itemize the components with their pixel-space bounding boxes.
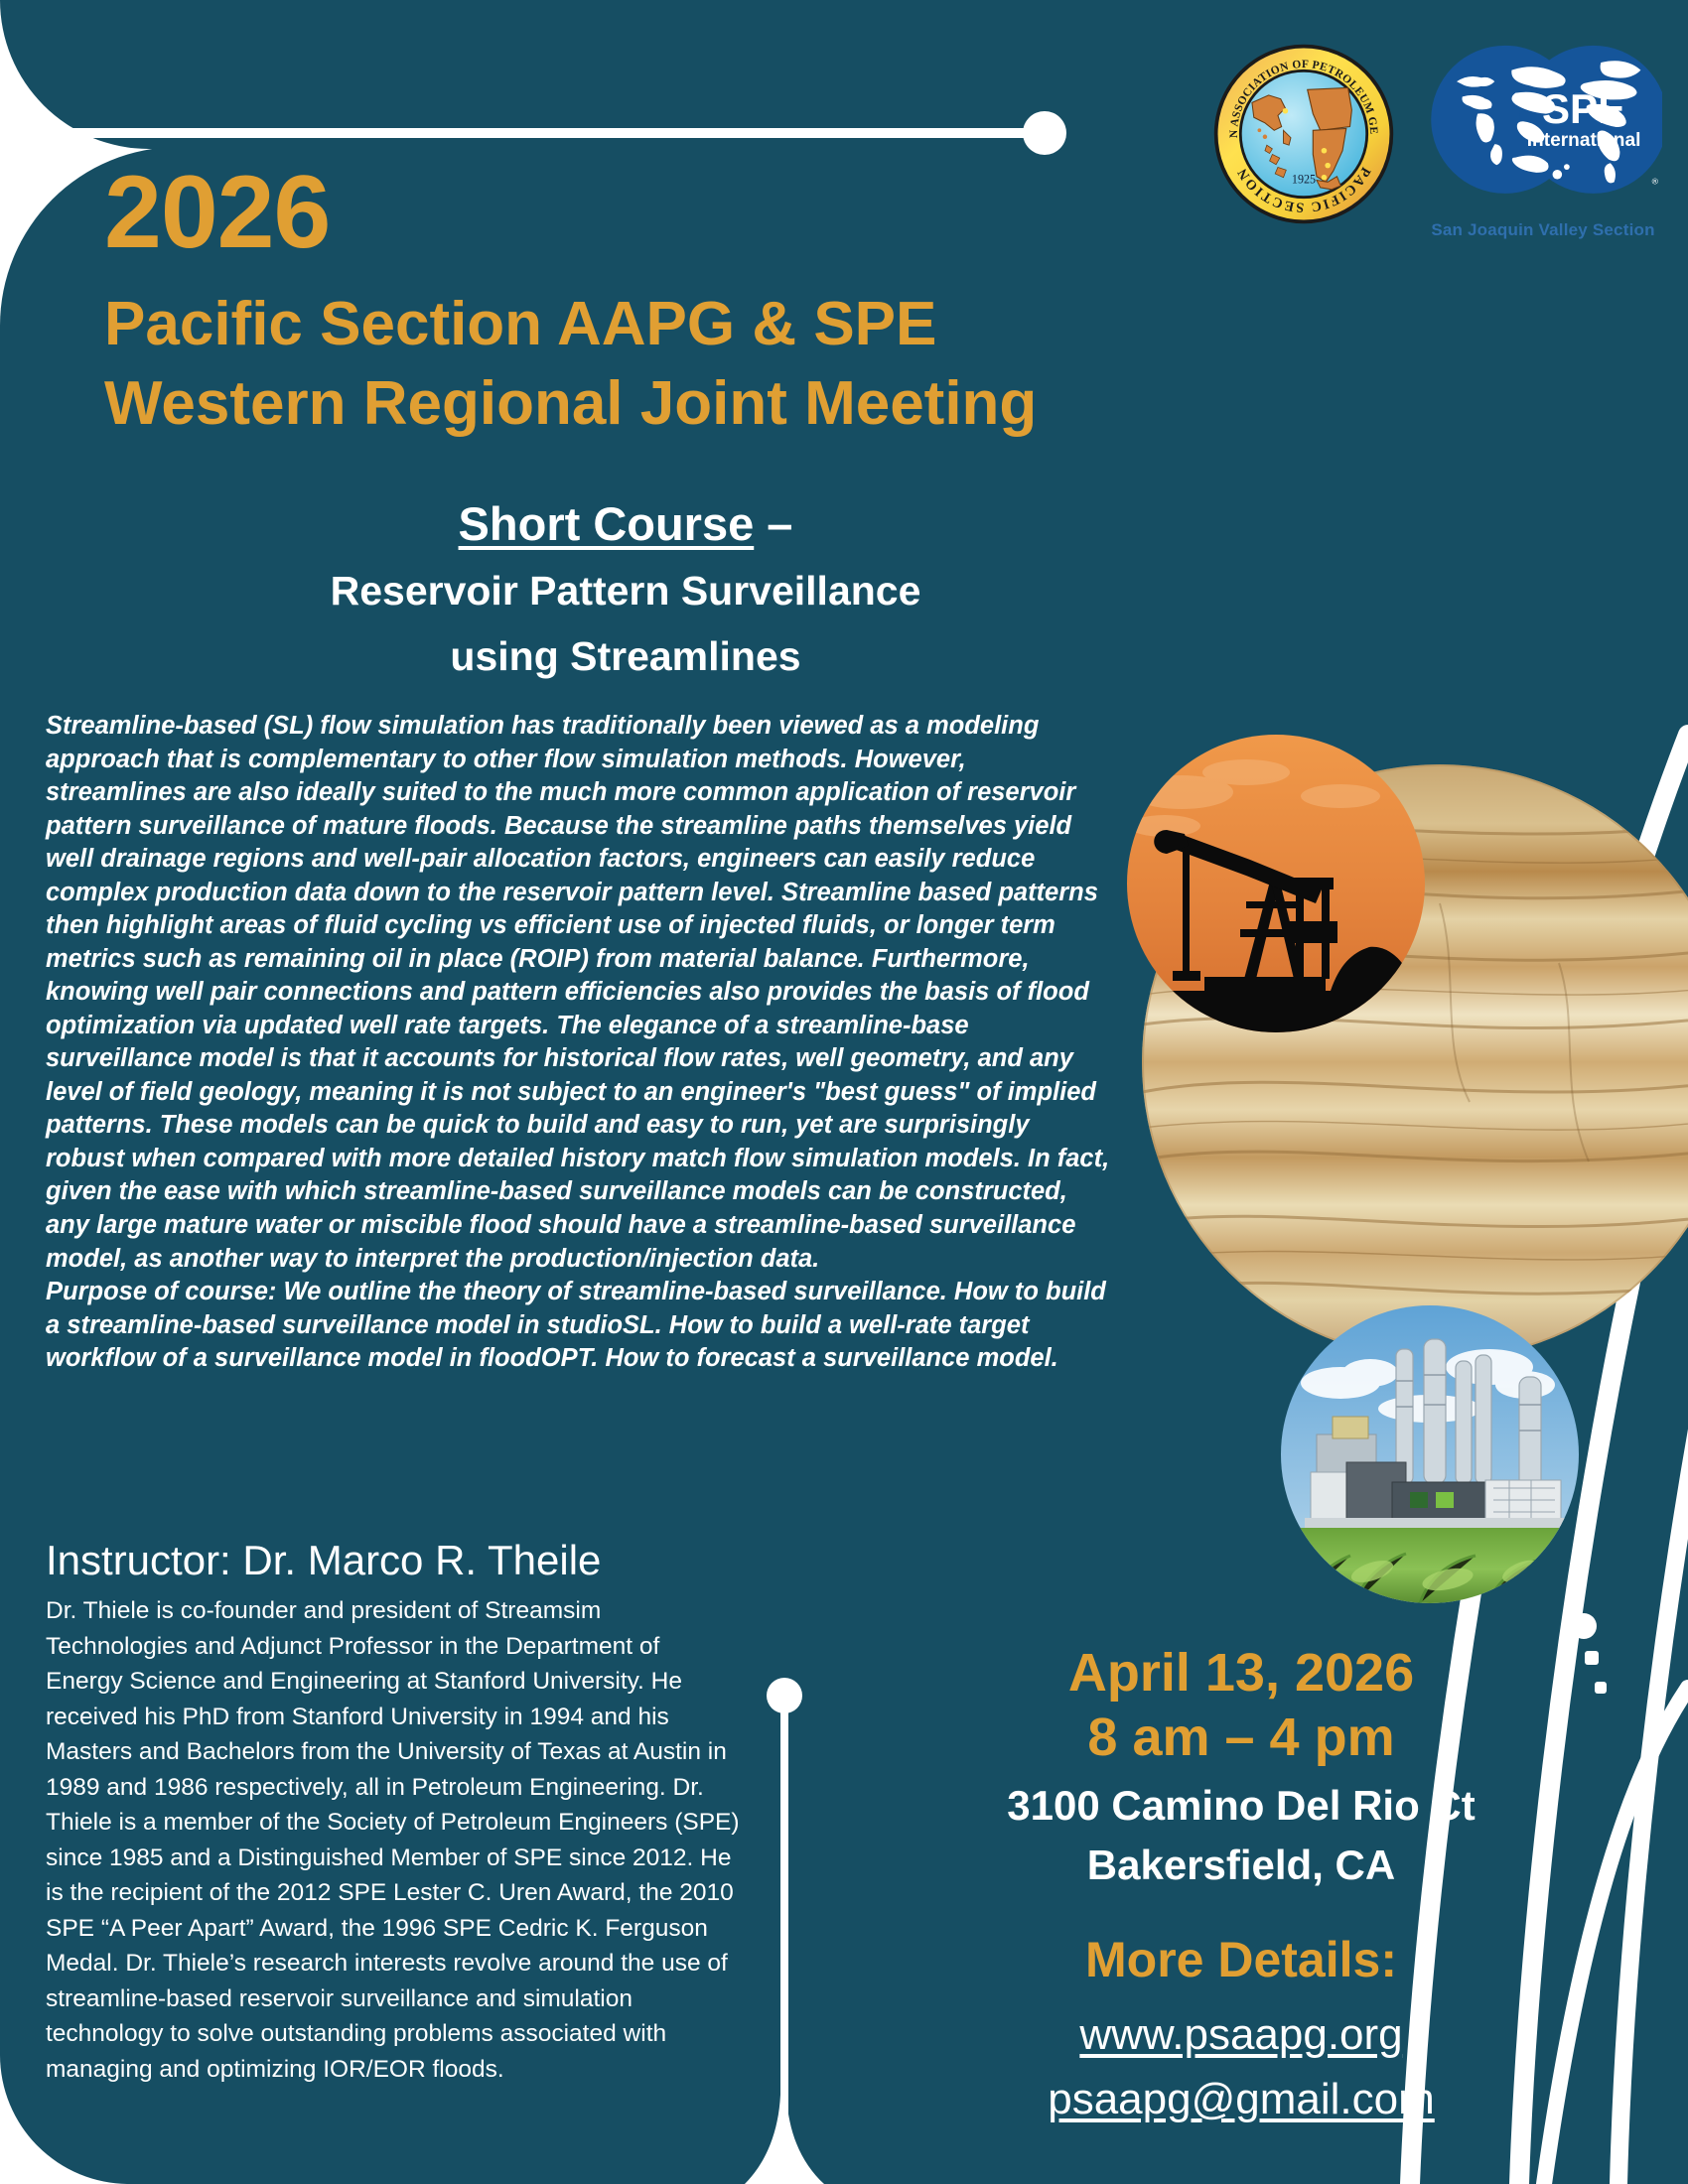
poster-canvas: 1925 AMERICAN ASSOCIATION OF PETROLEUM G… bbox=[0, 0, 1688, 2184]
event-date: April 13, 2026 bbox=[923, 1643, 1559, 1703]
logo-group: 1925 AMERICAN ASSOCIATION OF PETROLEUM G… bbox=[1211, 42, 1662, 240]
event-time: 8 am – 4 pm bbox=[923, 1707, 1559, 1767]
instructor-divider-line bbox=[780, 1707, 788, 2134]
accent-dot-medium bbox=[1585, 1651, 1599, 1665]
event-year: 2026 bbox=[104, 164, 330, 262]
email-link[interactable]: psaapg@gmail.com bbox=[923, 2075, 1559, 2124]
refinery-plant-photo bbox=[1281, 1305, 1579, 1603]
accent-dot-small bbox=[1595, 1682, 1607, 1694]
abstract-paragraph-1: Streamline-based (SL) flow simulation ha… bbox=[46, 710, 1113, 1276]
event-title-line-1: Pacific Section AAPG & SPE bbox=[104, 293, 936, 355]
spe-section-label: San Joaquin Valley Section bbox=[1424, 220, 1662, 240]
short-course-subject-line-2: using Streamlines bbox=[0, 633, 1688, 680]
pumpjack-sunset-photo bbox=[1127, 735, 1425, 1032]
short-course-label: Short Course bbox=[459, 497, 755, 550]
event-title-line-2: Western Regional Joint Meeting bbox=[104, 372, 1037, 435]
more-details-heading: More Details: bbox=[923, 1931, 1559, 1988]
short-course-dash: – bbox=[754, 497, 792, 550]
svg-text:®: ® bbox=[1652, 176, 1659, 186]
svg-text:International: International bbox=[1527, 130, 1641, 151]
website-link[interactable]: www.psaapg.org bbox=[923, 2010, 1559, 2060]
spe-international-logo: SPE International ® San Joaquin Valley S… bbox=[1424, 42, 1662, 240]
event-address-line-2: Bakersfield, CA bbox=[923, 1842, 1559, 1889]
top-rule-line bbox=[0, 128, 1038, 138]
svg-text:1925: 1925 bbox=[1292, 172, 1316, 186]
short-course-heading: Short Course – bbox=[0, 496, 1688, 551]
instructor-bio: Dr. Thiele is co-founder and president o… bbox=[46, 1593, 741, 2087]
instructor-heading: Instructor: Dr. Marco R. Theile bbox=[46, 1537, 601, 1584]
course-abstract: Streamline-based (SL) flow simulation ha… bbox=[46, 710, 1113, 1376]
event-address-line-1: 3100 Camino Del Rio Ct bbox=[923, 1782, 1559, 1830]
aapg-pacific-section-seal: 1925 AMERICAN ASSOCIATION OF PETROLEUM G… bbox=[1211, 42, 1396, 226]
accent-dot-large bbox=[1571, 1613, 1597, 1639]
short-course-subject-line-1: Reservoir Pattern Surveillance bbox=[0, 568, 1688, 614]
abstract-paragraph-2: Purpose of course: We outline the theory… bbox=[46, 1276, 1113, 1376]
svg-text:SPE: SPE bbox=[1542, 85, 1625, 132]
top-rule-dot bbox=[1023, 111, 1066, 155]
